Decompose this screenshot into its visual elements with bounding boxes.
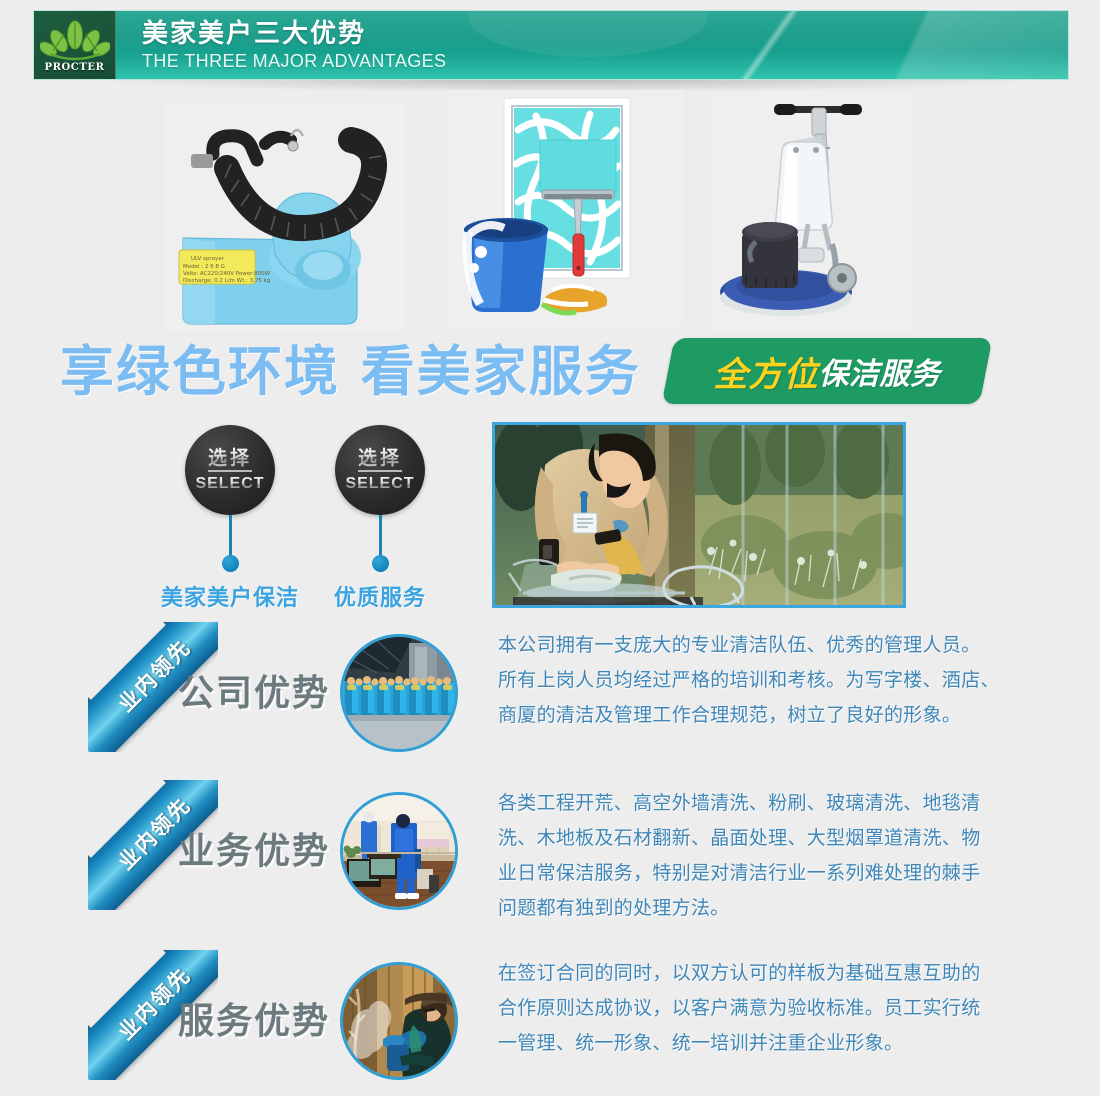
svg-text:Volts: AC220/240V Power:800W: Volts: AC220/240V Power:800W xyxy=(183,271,271,277)
advantage-row-service: 业内领先 服务优势 xyxy=(0,950,1100,1096)
advantage-text-3-line-2: 合作原则达成协议，以客户满意为验收标准。员工实行统 xyxy=(498,991,1010,1026)
product-image-window-cleaning xyxy=(448,90,684,326)
banner-text-white: 保洁服务 xyxy=(819,349,941,393)
advantage-text-1: 本公司拥有一支庞大的专业清洁队伍、优秀的管理人员。 所有上岗人员均经过严格的培训… xyxy=(498,628,1010,733)
advantage-text-3-line-1: 在签订合同的同时，以双方认可的样板为基础互惠互助的 xyxy=(498,956,1010,991)
advantage-text-1-line-2: 所有上岗人员均经过严格的培训和考核。为写字楼、酒店、 xyxy=(498,663,1010,698)
advantage-title-2: 业务优势 xyxy=(178,822,330,874)
select-badge-1-label: 美家美户保洁 xyxy=(150,580,310,612)
cleaning-staff-photo xyxy=(495,425,903,605)
page-header: PROCTER 美家美户三大优势 THE THREE MAJOR ADVANTA… xyxy=(33,10,1069,80)
svg-text:Discharge: 0.2 L/m Wt.: 3.: Discharge: 0.2 L/m Wt.: 3.75 kg xyxy=(183,278,270,284)
select-badge-group: 选择 SELECT 美家美户保洁 选择 SELECT 优质服务 xyxy=(150,425,480,615)
header-bar: PROCTER 美家美户三大优势 THE THREE MAJOR ADVANTA… xyxy=(33,10,1069,80)
advantage-text-3: 在签订合同的同时，以双方认可的样板为基础互惠互助的 合作原则达成协议，以客户满意… xyxy=(498,956,1010,1061)
floor-polisher-illustration xyxy=(712,92,912,332)
advantage-text-2-line-3: 业日常保洁服务，特别是对清洁行业一系列难处理的棘手 xyxy=(498,856,1010,891)
leaf-crown-icon xyxy=(40,20,110,64)
hero-big-title: 享绿色环境 看美家服务 xyxy=(60,341,641,403)
staff-lineup-photo xyxy=(343,637,455,749)
select-badge-1[interactable]: 选择 SELECT 美家美户保洁 xyxy=(150,425,310,612)
select-circle-icon: 选择 SELECT xyxy=(185,425,275,515)
select-badge-2[interactable]: 选择 SELECT 优质服务 xyxy=(300,425,460,612)
header-title-en: THE THREE MAJOR ADVANTAGES xyxy=(142,49,446,73)
advantage-text-3-line-3: 一管理、统一形象、统一培训并注重企业形象。 xyxy=(498,1026,1010,1061)
banner-text-group: 全方位 保洁服务 xyxy=(668,338,986,404)
select-badge-1-cn: 选择 xyxy=(208,447,252,472)
advantage-text-2-line-1: 各类工程开荒、高空外墙清洗、粉刷、玻璃清洗、地毯清 xyxy=(498,786,1010,821)
logo-wordmark: PROCTER xyxy=(44,62,104,73)
advantage-text-2: 各类工程开荒、高空外墙清洗、粉刷、玻璃清洗、地毯清 洗、木地板及石材翻新、晶面处… xyxy=(498,786,1010,926)
select-circle-icon: 选择 SELECT xyxy=(335,425,425,515)
window-cleaning-illustration xyxy=(448,90,684,326)
header-bubble-decoration xyxy=(468,10,708,57)
select-connector-line xyxy=(229,515,232,557)
header-title-group: 美家美户三大优势 THE THREE MAJOR ADVANTAGES xyxy=(142,19,446,73)
product-image-ulv-sprayer: ULV sprayer Model : 2 6 8 G Volts: AC220… xyxy=(165,102,405,332)
banner-text-yellow: 全方位 xyxy=(714,347,819,396)
advantage-text-2-line-2: 洗、木地板及石材翻新、晶面处理、大型烟罩道清洗、物 xyxy=(498,821,1010,856)
company-logo[interactable]: PROCTER xyxy=(34,11,116,80)
advantage-title-1: 公司优势 xyxy=(178,664,330,716)
all-round-service-banner: 全方位 保洁服务 xyxy=(668,338,986,404)
page-root: PROCTER 美家美户三大优势 THE THREE MAJOR ADVANTA… xyxy=(0,0,1100,1096)
advantage-photo-3 xyxy=(340,962,458,1080)
select-badge-2-cn: 选择 xyxy=(358,447,402,472)
advantage-text-1-line-3: 商厦的清洁及管理工作合理规范，树立了良好的形象。 xyxy=(498,698,1010,733)
svg-text:Model : 2 6 8 G: Model : 2 6 8 G xyxy=(183,264,225,270)
advantage-photo-1 xyxy=(340,634,458,752)
worker-spraying-photo xyxy=(343,965,455,1077)
product-image-strip: ULV sprayer Model : 2 6 8 G Volts: AC220… xyxy=(0,88,1100,343)
advantage-title-3: 服务优势 xyxy=(178,992,330,1044)
svg-text:ULV sprayer: ULV sprayer xyxy=(191,256,225,262)
select-connector-dot-icon xyxy=(372,555,389,572)
product-image-floor-polisher xyxy=(712,92,912,332)
select-connector-dot-icon xyxy=(222,555,239,572)
advantage-text-2-line-4: 问题都有独到的处理方法。 xyxy=(498,891,1010,926)
advantage-row-business: 业内领先 业务优势 xyxy=(0,780,1100,930)
hero-photo xyxy=(492,422,906,608)
ulv-sprayer-illustration: ULV sprayer Model : 2 6 8 G Volts: AC220… xyxy=(165,102,405,332)
select-connector-line xyxy=(379,515,382,557)
advantage-row-company: 业内领先 公司优势 xyxy=(0,622,1100,772)
header-sheen-decoration xyxy=(808,11,1068,79)
header-title-cn: 美家美户三大优势 xyxy=(142,19,446,49)
advantage-text-1-line-1: 本公司拥有一支庞大的专业清洁队伍、优秀的管理人员。 xyxy=(498,628,1010,663)
interior-cleaning-photo xyxy=(343,795,455,907)
select-badge-2-label: 优质服务 xyxy=(300,580,460,612)
select-badge-2-en: SELECT xyxy=(345,475,414,493)
select-badge-1-en: SELECT xyxy=(195,475,264,493)
advantage-photo-2 xyxy=(340,792,458,910)
